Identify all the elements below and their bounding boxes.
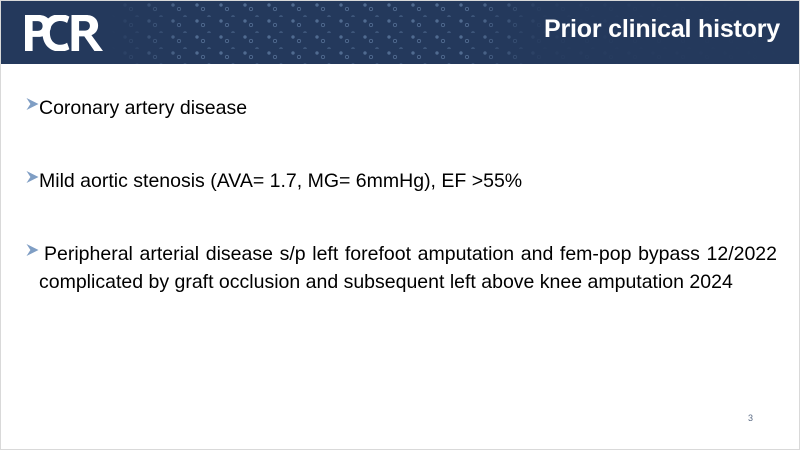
page-title: Prior clinical history (544, 15, 780, 44)
bullet-text: Mild aortic stenosis (AVA= 1.7, MG= 6mmH… (39, 167, 777, 195)
arrow-bullet-icon (25, 240, 41, 260)
slide: Prior clinical history Coronary artery d… (0, 0, 800, 450)
bullet-item: Mild aortic stenosis (AVA= 1.7, MG= 6mmH… (25, 167, 777, 195)
bullet-text: Peripheral arterial disease s/p left for… (39, 240, 777, 296)
bullet-item: Peripheral arterial disease s/p left for… (25, 240, 777, 296)
slide-header: Prior clinical history (1, 1, 800, 64)
arrow-bullet-icon (25, 167, 41, 187)
slide-body: Coronary artery disease Mild aortic sten… (1, 64, 800, 450)
arrow-bullet-icon (25, 94, 41, 114)
page-number: 3 (748, 413, 753, 423)
bullet-text: Coronary artery disease (39, 94, 777, 122)
bullet-item: Coronary artery disease (25, 94, 777, 122)
pcr-logo (25, 15, 103, 51)
